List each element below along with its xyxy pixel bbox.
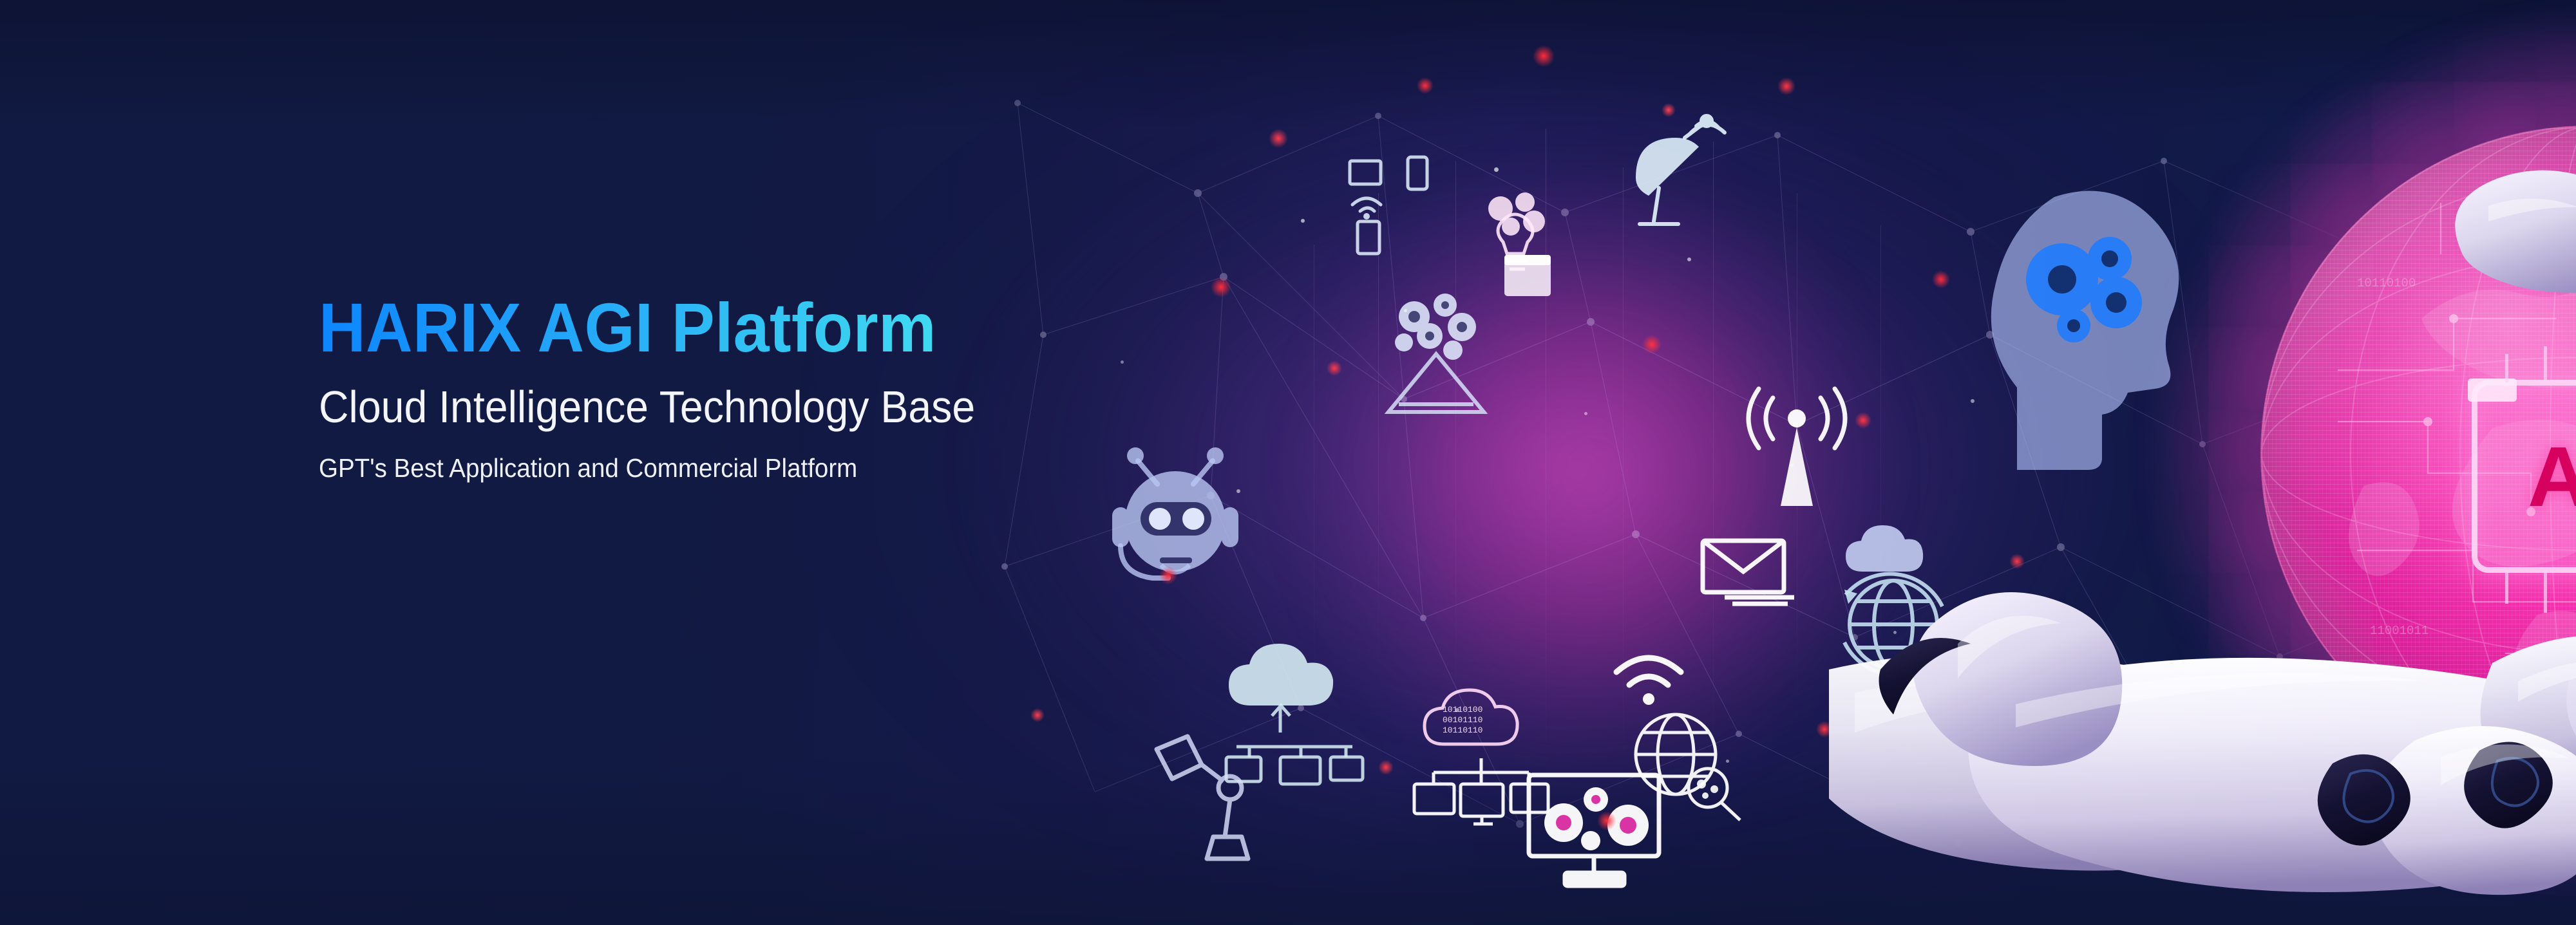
ai-chip-icon: AI bbox=[2472, 380, 2576, 573]
globe-search-icon bbox=[1623, 702, 1752, 824]
mobile-icon bbox=[1408, 157, 1427, 189]
wifi-icon bbox=[1610, 650, 1687, 708]
gears-pedestal-icon bbox=[1365, 283, 1507, 418]
devices-cluster-icons bbox=[1346, 154, 1494, 303]
laptop-icon bbox=[1350, 161, 1381, 184]
tablet-icon bbox=[1358, 221, 1379, 254]
svg-text:00101110: 00101110 bbox=[1443, 715, 1482, 725]
hand-top-finger-1 bbox=[2455, 171, 2576, 293]
banner-subtitle: Cloud Intelligence Technology Base bbox=[319, 384, 975, 429]
document-card-icon bbox=[1501, 251, 1558, 303]
svg-text:10110100: 10110100 bbox=[1443, 705, 1482, 715]
hero-artwork: 10110100 01011101 11001011 10110010 AI bbox=[966, 0, 2576, 925]
banner-title: HARIX AGI Platform bbox=[319, 293, 982, 362]
robot-arm-icon bbox=[1140, 727, 1262, 869]
hero-banner: 10110100 01011101 11001011 10110010 AI bbox=[0, 0, 2576, 925]
chip-label: AI bbox=[2472, 380, 2576, 573]
binary-cloud-icon: 10110100 00101110 10110110 bbox=[1417, 682, 1526, 766]
svg-text:10110110: 10110110 bbox=[1443, 725, 1482, 735]
satellite-dish-icon bbox=[1623, 116, 1726, 232]
robotic-hand-bottom bbox=[1784, 566, 2576, 925]
banner-text-block: HARIX AGI Platform Cloud Intelligence Te… bbox=[319, 293, 1032, 481]
robotic-hand-top bbox=[2351, 13, 2576, 373]
brain-gears-head-icon bbox=[1971, 174, 2228, 470]
banner-tagline: GPT's Best Application and Commercial Pl… bbox=[319, 455, 989, 481]
